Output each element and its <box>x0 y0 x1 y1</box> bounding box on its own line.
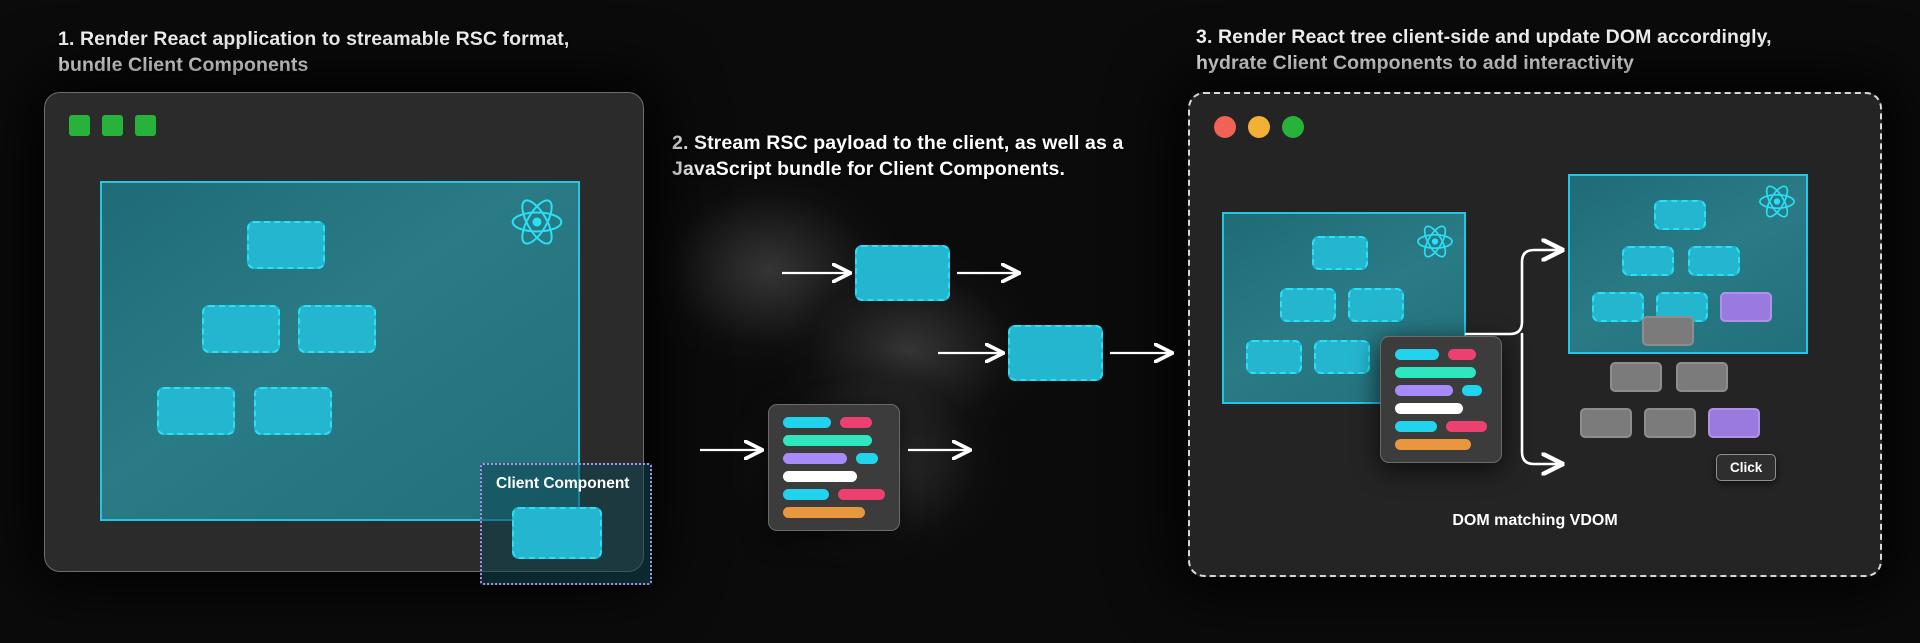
rsc-chunk-2[interactable] <box>1008 325 1103 381</box>
tree-node-leaf-1[interactable] <box>157 387 235 435</box>
code-row <box>1395 349 1487 360</box>
code-row <box>1395 421 1487 432</box>
react-atom-icon <box>1758 184 1796 219</box>
tree-node-child-1[interactable] <box>1280 288 1336 322</box>
code-row <box>783 435 885 446</box>
code-row <box>783 489 885 500</box>
tree-node-child-1[interactable] <box>202 305 280 353</box>
output-node-child-1[interactable] <box>1622 246 1674 276</box>
code-row <box>783 471 885 482</box>
tree-node-leaf-2[interactable] <box>254 387 332 435</box>
caption-step-1: 1. Render React application to streamabl… <box>58 26 618 78</box>
code-row <box>783 507 885 518</box>
dot-maximize[interactable] <box>1282 116 1304 138</box>
client-component-group[interactable]: Client Component <box>480 463 652 585</box>
code-row <box>1395 439 1487 450</box>
code-row <box>1395 403 1487 414</box>
dom-node-leaf-1[interactable] <box>1580 408 1632 438</box>
dom-node-client[interactable] <box>1708 408 1760 438</box>
react-atom-icon <box>510 197 564 247</box>
output-node-client[interactable] <box>1720 292 1772 322</box>
caption-step-3: 3. Render React tree client-side and upd… <box>1196 24 1856 76</box>
tree-node-child-2[interactable] <box>298 305 376 353</box>
tree-node-root[interactable] <box>247 221 325 269</box>
rsc-chunk-1[interactable] <box>855 245 950 301</box>
dot-minimize[interactable] <box>1248 116 1270 138</box>
dom-node-root[interactable] <box>1642 316 1694 346</box>
code-row <box>1395 367 1487 378</box>
tree-node-root[interactable] <box>1312 236 1368 270</box>
dom-node-child-2[interactable] <box>1676 362 1728 392</box>
diagram-canvas: 1. Render React application to streamabl… <box>0 0 1920 643</box>
window-controls <box>69 115 156 136</box>
tree-node-leaf-2[interactable] <box>1314 340 1370 374</box>
client-render-window[interactable]: Click DOM matching VDOM <box>1188 92 1882 577</box>
javascript-bundle-card[interactable] <box>768 404 900 531</box>
dot-green-1[interactable] <box>69 115 90 136</box>
dom-node-leaf-2[interactable] <box>1644 408 1696 438</box>
hydration-code-card[interactable] <box>1380 336 1502 463</box>
dot-green-3[interactable] <box>135 115 156 136</box>
code-row <box>783 417 885 428</box>
window-controls <box>1214 116 1304 138</box>
client-component-node[interactable] <box>512 507 602 559</box>
dom-matching-vdom-label: DOM matching VDOM <box>1190 512 1880 530</box>
dom-node-child-1[interactable] <box>1610 362 1662 392</box>
caption-step-2: 2. Stream RSC payload to the client, as … <box>672 130 1172 182</box>
output-node-child-2[interactable] <box>1688 246 1740 276</box>
server-render-window[interactable]: Client Component <box>44 92 644 572</box>
code-row <box>1395 385 1487 396</box>
click-tooltip[interactable]: Click <box>1716 454 1776 481</box>
output-node-leaf-1[interactable] <box>1592 292 1644 322</box>
client-component-label: Client Component <box>496 475 629 493</box>
tree-node-child-2[interactable] <box>1348 288 1404 322</box>
tree-node-leaf-1[interactable] <box>1246 340 1302 374</box>
code-row <box>783 453 885 464</box>
dot-close[interactable] <box>1214 116 1236 138</box>
react-atom-icon <box>1416 224 1454 259</box>
output-node-root[interactable] <box>1654 200 1706 230</box>
react-application-tree: Client Component <box>100 181 580 521</box>
dot-green-2[interactable] <box>102 115 123 136</box>
